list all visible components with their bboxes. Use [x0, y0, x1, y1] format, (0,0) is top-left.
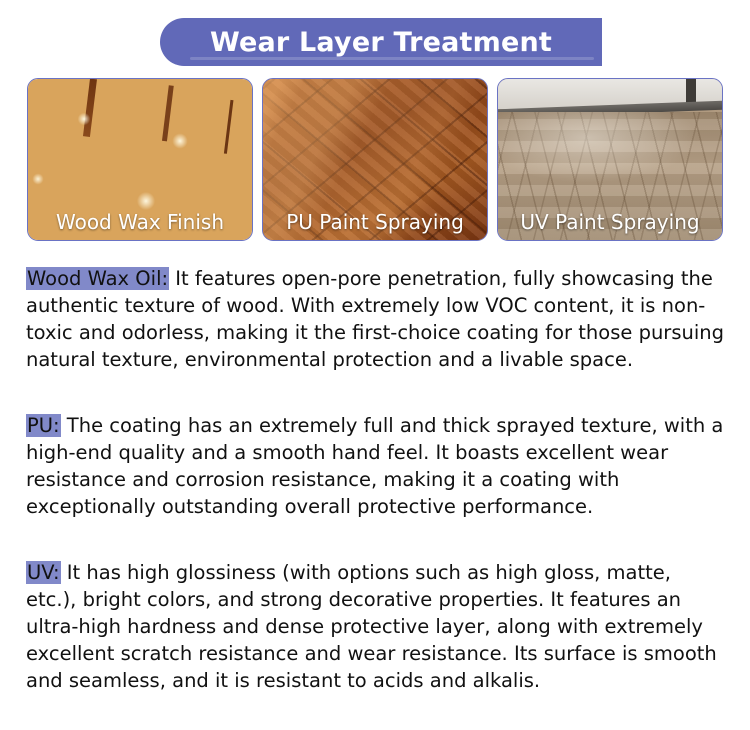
- gallery-item-wood-wax-finish[interactable]: Wood Wax Finish: [27, 78, 253, 241]
- gallery-caption: Wood Wax Finish: [28, 211, 252, 233]
- paragraph-pu: PU: The coating has an extremely full an…: [26, 412, 724, 520]
- description-section: Wood Wax Oil: It features open-pore pene…: [0, 241, 750, 694]
- gallery-caption: UV Paint Spraying: [498, 211, 722, 233]
- term-label: UV:: [26, 561, 61, 584]
- paragraph-text: The coating has an extremely full and th…: [26, 414, 723, 518]
- image-gallery: Wood Wax Finish PU Paint Spraying UV Pai…: [0, 78, 750, 241]
- banner-sheen: [190, 57, 594, 60]
- paragraph-uv: UV: It has high glossiness (with options…: [26, 559, 724, 694]
- term-label: Wood Wax Oil:: [26, 267, 169, 290]
- gallery-item-uv-paint-spraying[interactable]: UV Paint Spraying: [497, 78, 723, 241]
- title-banner-row: Wear Layer Treatment: [0, 0, 750, 78]
- page-title: Wear Layer Treatment: [210, 29, 552, 56]
- title-banner: Wear Layer Treatment: [160, 18, 602, 66]
- term-label: PU:: [26, 414, 61, 437]
- paragraph-wood-wax-oil: Wood Wax Oil: It features open-pore pene…: [26, 265, 724, 373]
- gallery-item-pu-paint-spraying[interactable]: PU Paint Spraying: [262, 78, 488, 241]
- gallery-caption: PU Paint Spraying: [263, 211, 487, 233]
- paragraph-text: It has high glossiness (with options suc…: [26, 561, 717, 692]
